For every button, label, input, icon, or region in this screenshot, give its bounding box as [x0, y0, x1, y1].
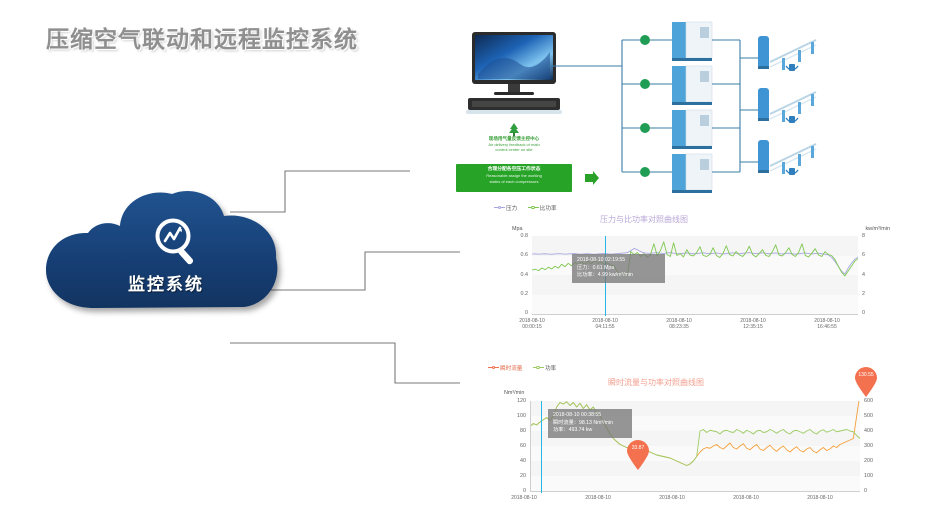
marker-label: 33.87 — [625, 445, 651, 451]
legend-label: 压力 — [506, 206, 517, 212]
legend-marker-icon — [494, 205, 505, 211]
marker-label: 130.55 — [853, 372, 879, 378]
ytick: 60 — [502, 443, 526, 449]
x-axis-line — [532, 314, 858, 315]
ytick-right: 2 — [862, 291, 865, 297]
legend-item-power[interactable]: 功率 — [533, 364, 556, 372]
ytick-right: 6 — [862, 252, 865, 258]
tooltip-time: 2018-08-10 02:19:55 — [577, 257, 660, 265]
legend-label: 比功率 — [540, 206, 557, 212]
ytick-right: 8 — [862, 233, 865, 239]
monitoring-cloud[interactable]: 监控系统 — [42, 188, 290, 323]
flow-chart-title: 瞬时流量与功率对照曲线图 — [608, 377, 704, 388]
ytick: 0.2 — [508, 291, 528, 297]
ytick-right: 200 — [864, 458, 873, 464]
ytick: 120 — [502, 398, 526, 404]
magnifier-chart-icon — [149, 216, 205, 268]
pressure-tooltip: 2018-08-10 02:19:55 压力：0.61 Mpa 比功率：4.99… — [572, 254, 665, 283]
tooltip-line-2: 比功率：4.99 kw/m³/min — [577, 272, 660, 280]
xtick: 2018-08-10 16:46:55 — [795, 318, 859, 331]
ytick-right: 600 — [864, 398, 873, 404]
xtick: 2018-08-10 — [492, 495, 556, 501]
flow-chart-legend[interactable]: 瞬时流量 功率 — [488, 364, 565, 372]
xtick-time: 04:11:55 — [573, 324, 637, 330]
xtick: 2018-08-10 — [788, 495, 852, 501]
legend-item-pressure[interactable]: 压力 — [494, 204, 517, 212]
xtick-time: 00:00:15 — [500, 324, 564, 330]
cloud-label: 监控系统 — [42, 270, 290, 295]
legend-item-flow[interactable]: 瞬时流量 — [488, 364, 522, 372]
xtick: 2018-08-10 — [714, 495, 778, 501]
tooltip-line-2: 功率：493.74 kw — [553, 427, 627, 435]
ytick-right: 0 — [862, 310, 865, 316]
legend-item-specific-power[interactable]: 比功率 — [528, 204, 557, 212]
xtick: 2018-08-10 04:11:55 — [573, 318, 637, 331]
ytick: 0.4 — [508, 272, 528, 278]
xtick: 2018-08-10 — [566, 495, 630, 501]
xtick: 2018-08-10 00:00:15 — [500, 318, 564, 331]
page-title: 压缩空气联动和远程监控系统 — [46, 20, 358, 54]
plant-wiring — [544, 18, 944, 200]
tree-icon — [506, 123, 522, 137]
xtick: 2018-08-10 08:23:35 — [647, 318, 711, 331]
pressure-chart-panel[interactable]: 压力 比功率 压力与比功率对照曲线图 Mpa kw/m³/min 0.8 0.6… — [490, 200, 890, 335]
flow-y-unit: Nm³/min — [504, 390, 524, 396]
tooltip-time: 2018-08-10 00:38:55 — [553, 412, 627, 420]
x-axis-line — [530, 491, 860, 492]
xtick-time: 16:46:55 — [795, 324, 859, 330]
pressure-chart-title: 压力与比功率对照曲线图 — [600, 214, 688, 225]
ytick: 20 — [502, 473, 526, 479]
ytick: 0 — [502, 488, 526, 494]
xtick: 2018-08-10 12:35:15 — [721, 318, 785, 331]
ytick-right: 500 — [864, 413, 873, 419]
ytick: 100 — [502, 413, 526, 419]
xtick: 2018-08-10 — [640, 495, 704, 501]
pressure-chart-legend[interactable]: 压力 比功率 — [494, 204, 566, 212]
ytick-right: 300 — [864, 443, 873, 449]
flow-tooltip: 2018-08-10 00:38:55 瞬时流量：98.13 Nm³/min 功… — [548, 409, 632, 438]
system-architecture-diagram: 现场用气量反馈主控中心 Air delivery feedback of mai… — [444, 18, 942, 200]
ytick: 40 — [502, 458, 526, 464]
ytick-right: 0 — [864, 488, 867, 494]
pressure-y2-unit: kw/m³/min — [865, 226, 890, 232]
ytick: 0.6 — [508, 252, 528, 258]
flow-marker-high[interactable]: 130.55 — [853, 367, 879, 397]
flow-marker-low[interactable]: 33.87 — [625, 440, 651, 470]
legend-label: 瞬时流量 — [500, 366, 522, 372]
flow-cursor-line[interactable] — [541, 401, 542, 493]
ytick-right: 100 — [864, 473, 873, 479]
legend-marker-icon — [488, 365, 499, 371]
legend-marker-icon — [533, 365, 544, 371]
legend-label: 功率 — [545, 366, 556, 372]
xtick-time: 08:23:35 — [647, 324, 711, 330]
ytick-right: 400 — [864, 428, 873, 434]
y-axis-line — [530, 401, 531, 492]
ytick: 0.8 — [508, 233, 528, 239]
slide-canvas: 压缩空气联动和远程监控系统 监控系统 — [0, 0, 945, 529]
xtick-time: 12:35:15 — [721, 324, 785, 330]
ytick-right: 4 — [862, 272, 865, 278]
ytick: 0 — [508, 310, 528, 316]
pressure-y-unit: Mpa — [512, 226, 523, 232]
flow-chart-panel[interactable]: 瞬时流量 功率 瞬时流量与功率对照曲线图 Nm³/min 120 100 80 … — [484, 362, 896, 522]
legend-marker-icon — [528, 205, 539, 211]
ytick: 80 — [502, 428, 526, 434]
